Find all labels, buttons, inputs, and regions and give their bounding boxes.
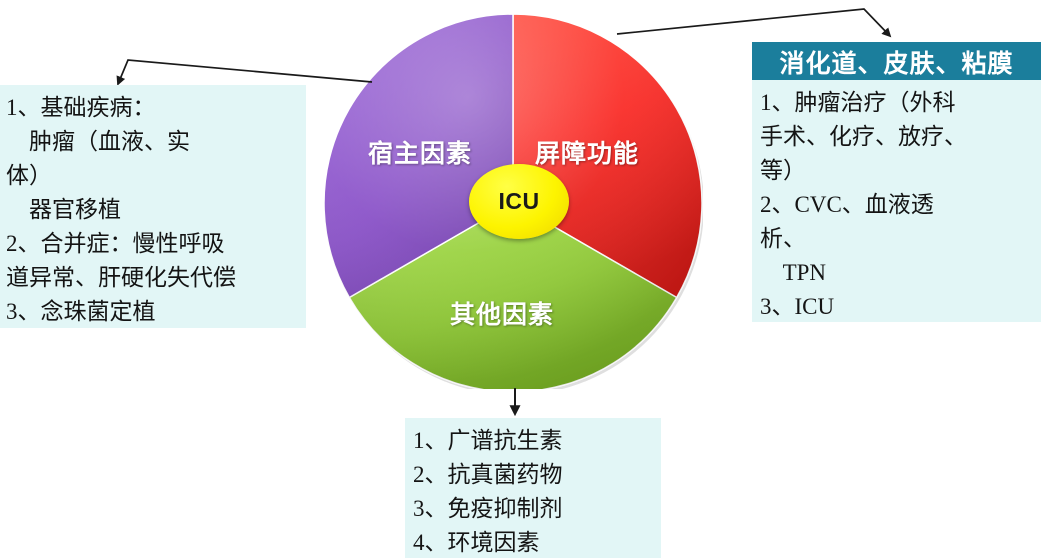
barrier-function-header-label: 消化道、皮肤、粘膜 — [779, 44, 1013, 80]
text-line: 2、CVC、血液透 — [760, 188, 1037, 222]
text-line: 器官移植 — [6, 193, 302, 227]
barrier-function-header: 消化道、皮肤、粘膜 — [752, 42, 1041, 81]
text-line: 3、免疫抑制剂 — [413, 492, 657, 526]
text-line: 体） — [6, 159, 302, 193]
other-factors-textbox: 1、广谱抗生素 2、抗真菌药物 3、免疫抑制剂 4、环境因素 — [405, 418, 661, 558]
host-factors-textbox: 1、基础疾病： 肿瘤（血液、实 体） 器官移植 2、合并症：慢性呼吸 道异常、肝… — [0, 85, 306, 328]
text-line: 析、 — [760, 222, 1037, 256]
pie-center-label: ICU — [498, 188, 539, 215]
text-line: 2、合并症：慢性呼吸 — [6, 227, 302, 261]
text-line: 道异常、肝硬化失代偿 — [6, 261, 302, 295]
text-line: 2、抗真菌药物 — [413, 458, 657, 492]
text-line: 1、广谱抗生素 — [413, 424, 657, 458]
text-line: 4、环境因素 — [413, 526, 657, 560]
text-line: 肿瘤（血液、实 — [6, 125, 302, 159]
text-line: 1、肿瘤治疗（外科 — [760, 86, 1037, 120]
text-line: 1、基础疾病： — [6, 91, 302, 125]
pie-chart: 屏障功能 宿主因素 其他因素 ICU — [323, 9, 703, 389]
pie-center-hub: ICU — [469, 164, 569, 239]
text-line: TPN — [760, 256, 1037, 290]
text-line: 3、念珠菌定植 — [6, 295, 302, 329]
barrier-function-textbox: 1、肿瘤治疗（外科 手术、化疗、放疗、 等） 2、CVC、血液透 析、 TPN … — [752, 80, 1041, 322]
diagram-canvas: 屏障功能 宿主因素 其他因素 ICU 1、基础疾病： 肿瘤（血液、实 体） 器官… — [0, 0, 1041, 558]
text-line: 3、ICU — [760, 290, 1037, 324]
text-line: 等） — [760, 154, 1037, 188]
text-line: 手术、化疗、放疗、 — [760, 120, 1037, 154]
